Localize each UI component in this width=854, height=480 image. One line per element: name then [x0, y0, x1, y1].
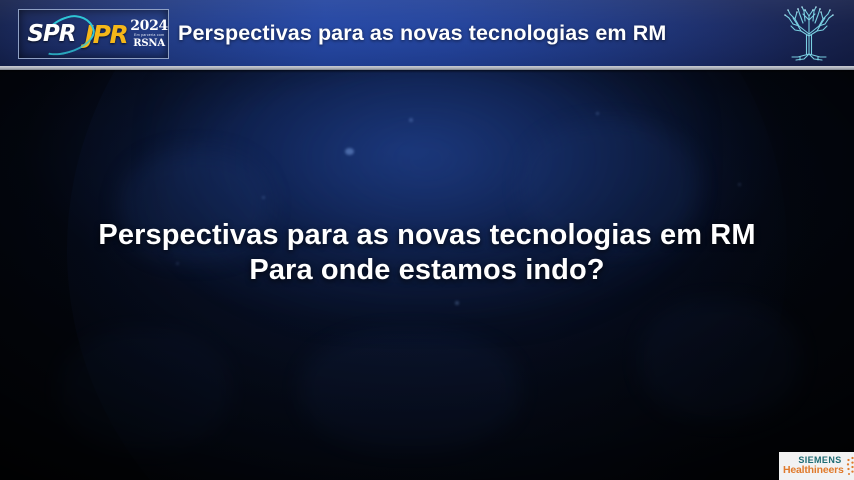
header-separator-shadow — [0, 70, 854, 73]
healthineers-brand-text: Healthineers — [783, 465, 844, 476]
spr-logo-text: SPR — [27, 21, 75, 47]
slide-title: Perspectivas para as novas tecnologias e… — [0, 218, 854, 288]
spr-logo: SPR — [19, 10, 84, 58]
circuit-tree-icon — [776, 2, 842, 64]
presentation-slide: SPR JPR 2024 Em parceria com RSNA Perspe… — [0, 0, 854, 480]
healthineers-dots-icon — [845, 455, 854, 477]
siemens-healthineers-logo: SIEMENS Healthineers — [779, 452, 854, 480]
jpr-year: 2024 — [130, 19, 168, 33]
jpr-year-block: 2024 Em parceria com RSNA — [130, 19, 168, 49]
rsna-logo-text: RSNA — [133, 39, 165, 49]
header-title: Perspectivas para as novas tecnologias e… — [178, 0, 666, 66]
slide-title-line-1: Perspectivas para as novas tecnologias e… — [98, 219, 755, 251]
slide-title-line-2: Para onde estamos indo? — [0, 253, 854, 288]
jpr-spr-logo: SPR JPR 2024 Em parceria com RSNA — [18, 9, 169, 59]
siemens-wordmark: SIEMENS Healthineers — [783, 456, 844, 476]
